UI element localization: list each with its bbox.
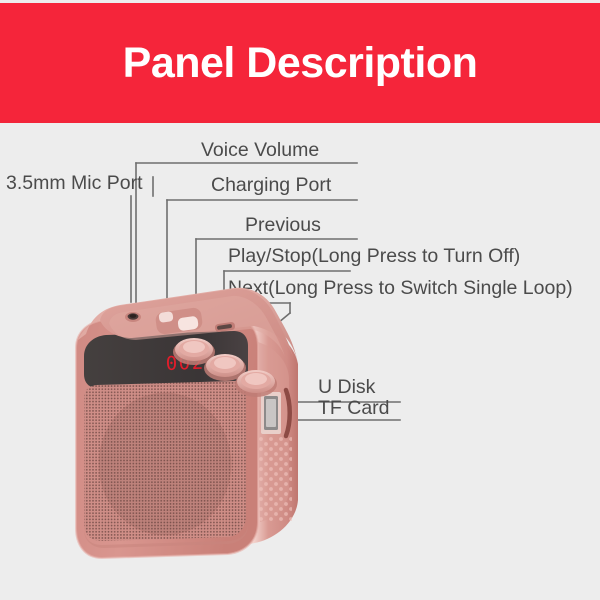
- callout-charging-port: Charging Port: [211, 176, 331, 196]
- callout-u-disk: U Disk: [318, 378, 375, 398]
- speaker-grille: [84, 381, 246, 541]
- page-title: Panel Description: [123, 42, 478, 85]
- callout-play-stop: Play/Stop(Long Press to Turn Off): [228, 247, 520, 267]
- callout-mic-port: 3.5mm Mic Port: [6, 174, 143, 194]
- voice-amplifier-device: 002: [58, 286, 306, 576]
- screenshot-root: Panel Description: [0, 0, 600, 600]
- u-disk-usb-port: [261, 392, 281, 434]
- callout-previous: Previous: [245, 216, 321, 236]
- device-front-face: 002: [76, 316, 258, 558]
- callout-tf-card: TF Card: [318, 399, 390, 419]
- 3.5mm-mic-jack: [125, 312, 141, 322]
- callout-voice-volume: Voice Volume: [201, 141, 319, 161]
- header-banner: Panel Description: [0, 3, 600, 123]
